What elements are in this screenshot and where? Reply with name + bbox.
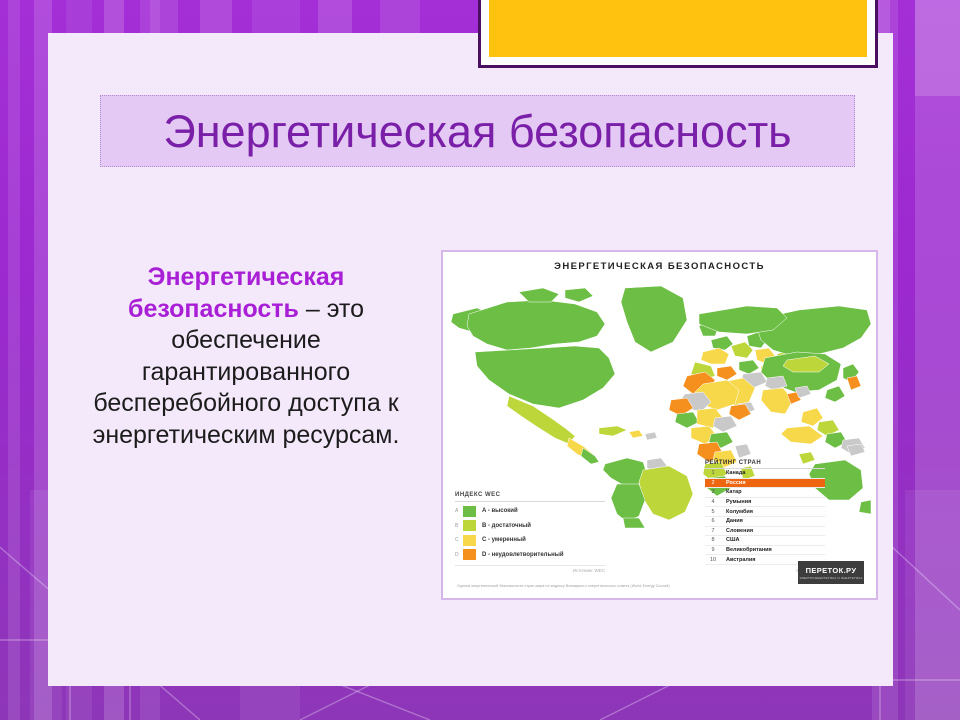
ranking-position: 1 <box>705 470 721 476</box>
slide-title: Энергетическая безопасность <box>163 109 791 154</box>
map-fineprint: Оценка энергетической безопасности стран… <box>457 584 862 589</box>
ranking-position: 8 <box>705 537 721 543</box>
ranking-position: 5 <box>705 509 721 515</box>
ranking-country: Великобритания <box>726 547 772 553</box>
legend-label: C - умеренный <box>482 537 526 543</box>
ranking-row: 8 США <box>705 536 825 546</box>
ranking-country: Канада <box>726 470 745 476</box>
ranking-position: 10 <box>705 557 721 563</box>
legend-item: C C - умеренный <box>455 535 605 546</box>
legend-swatch-poor <box>463 549 476 560</box>
ranking-country: Россия <box>726 480 746 486</box>
ranking-country: Колумбия <box>726 509 753 515</box>
ranking-country: США <box>726 537 739 543</box>
legend-item: A A - высокий <box>455 506 605 517</box>
ranking-country: Австралия <box>726 557 755 563</box>
legend-grade: A <box>455 508 463 514</box>
yellow-accent-inner <box>489 0 867 57</box>
legend-swatch-moderate <box>463 535 476 546</box>
legend-heading: ИНДЕКС WEC <box>455 492 605 502</box>
legend-swatch-sufficient <box>463 520 476 531</box>
ranking-position: 7 <box>705 528 721 534</box>
brand-name: ПЕРЕТОК.РУ <box>806 566 857 575</box>
ranking-row: 6 Дания <box>705 517 825 527</box>
ranking-heading: РЕЙТИНГ СТРАН <box>705 460 825 469</box>
ranking-position: 9 <box>705 547 721 553</box>
map-title: ЭНЕРГЕТИЧЕСКАЯ БЕЗОПАСНОСТЬ <box>443 261 876 272</box>
legend-source-note: Источник: WEC <box>455 565 605 573</box>
slide-body-text: Энергетическая безопасность – это обеспе… <box>78 262 414 451</box>
brand-tagline: ЭЛЕКТРОЭНЕРГЕТИКА И ЭНЕРГЕТИКА <box>799 576 862 580</box>
ranking-row: 4 Румыния <box>705 498 825 508</box>
map-figure: ЭНЕРГЕТИЧЕСКАЯ БЕЗОПАСНОСТЬ <box>441 250 878 600</box>
legend-swatch-high <box>463 506 476 517</box>
yellow-accent-block <box>478 0 878 68</box>
map-legend: ИНДЕКС WEC A A - высокий B B - достаточн… <box>455 492 605 573</box>
ranking-position: 3 <box>705 489 721 495</box>
legend-label: D - неудовлетворительный <box>482 552 564 558</box>
ranking-position: 4 <box>705 499 721 505</box>
legend-label: B - достаточный <box>482 523 531 529</box>
peretok-logo: ПЕРЕТОК.РУ ЭЛЕКТРОЭНЕРГЕТИКА И ЭНЕРГЕТИК… <box>798 561 864 584</box>
ranking-row: 5 Колумбия <box>705 507 825 517</box>
ranking-position: 2 <box>705 480 721 486</box>
ranking-position: 6 <box>705 518 721 524</box>
ranking-row: 1 Канада <box>705 469 825 479</box>
ranking-country: Катар <box>726 489 742 495</box>
legend-item: B B - достаточный <box>455 520 605 531</box>
legend-label: A - высокий <box>482 508 518 514</box>
slide-title-box: Энергетическая безопасность <box>100 95 855 167</box>
ranking-row: 3 Катар <box>705 488 825 498</box>
slide: Энергетическая безопасность Энергетическ… <box>0 0 960 720</box>
legend-item: D D - неудовлетворительный <box>455 549 605 560</box>
ranking-row: 9 Великобритания <box>705 546 825 556</box>
ranking-country: Словения <box>726 528 753 534</box>
legend-grade: D <box>455 552 463 558</box>
ranking-row: 7 Словения <box>705 527 825 537</box>
legend-grade: C <box>455 537 463 543</box>
ranking-row-highlighted: 2 Россия <box>705 479 825 489</box>
ranking-country: Дания <box>726 518 743 524</box>
country-ranking-table: РЕЙТИНГ СТРАН 1 Канада 2 Россия 3 Катар … <box>705 460 825 573</box>
legend-grade: B <box>455 523 463 529</box>
ranking-country: Румыния <box>726 499 751 505</box>
